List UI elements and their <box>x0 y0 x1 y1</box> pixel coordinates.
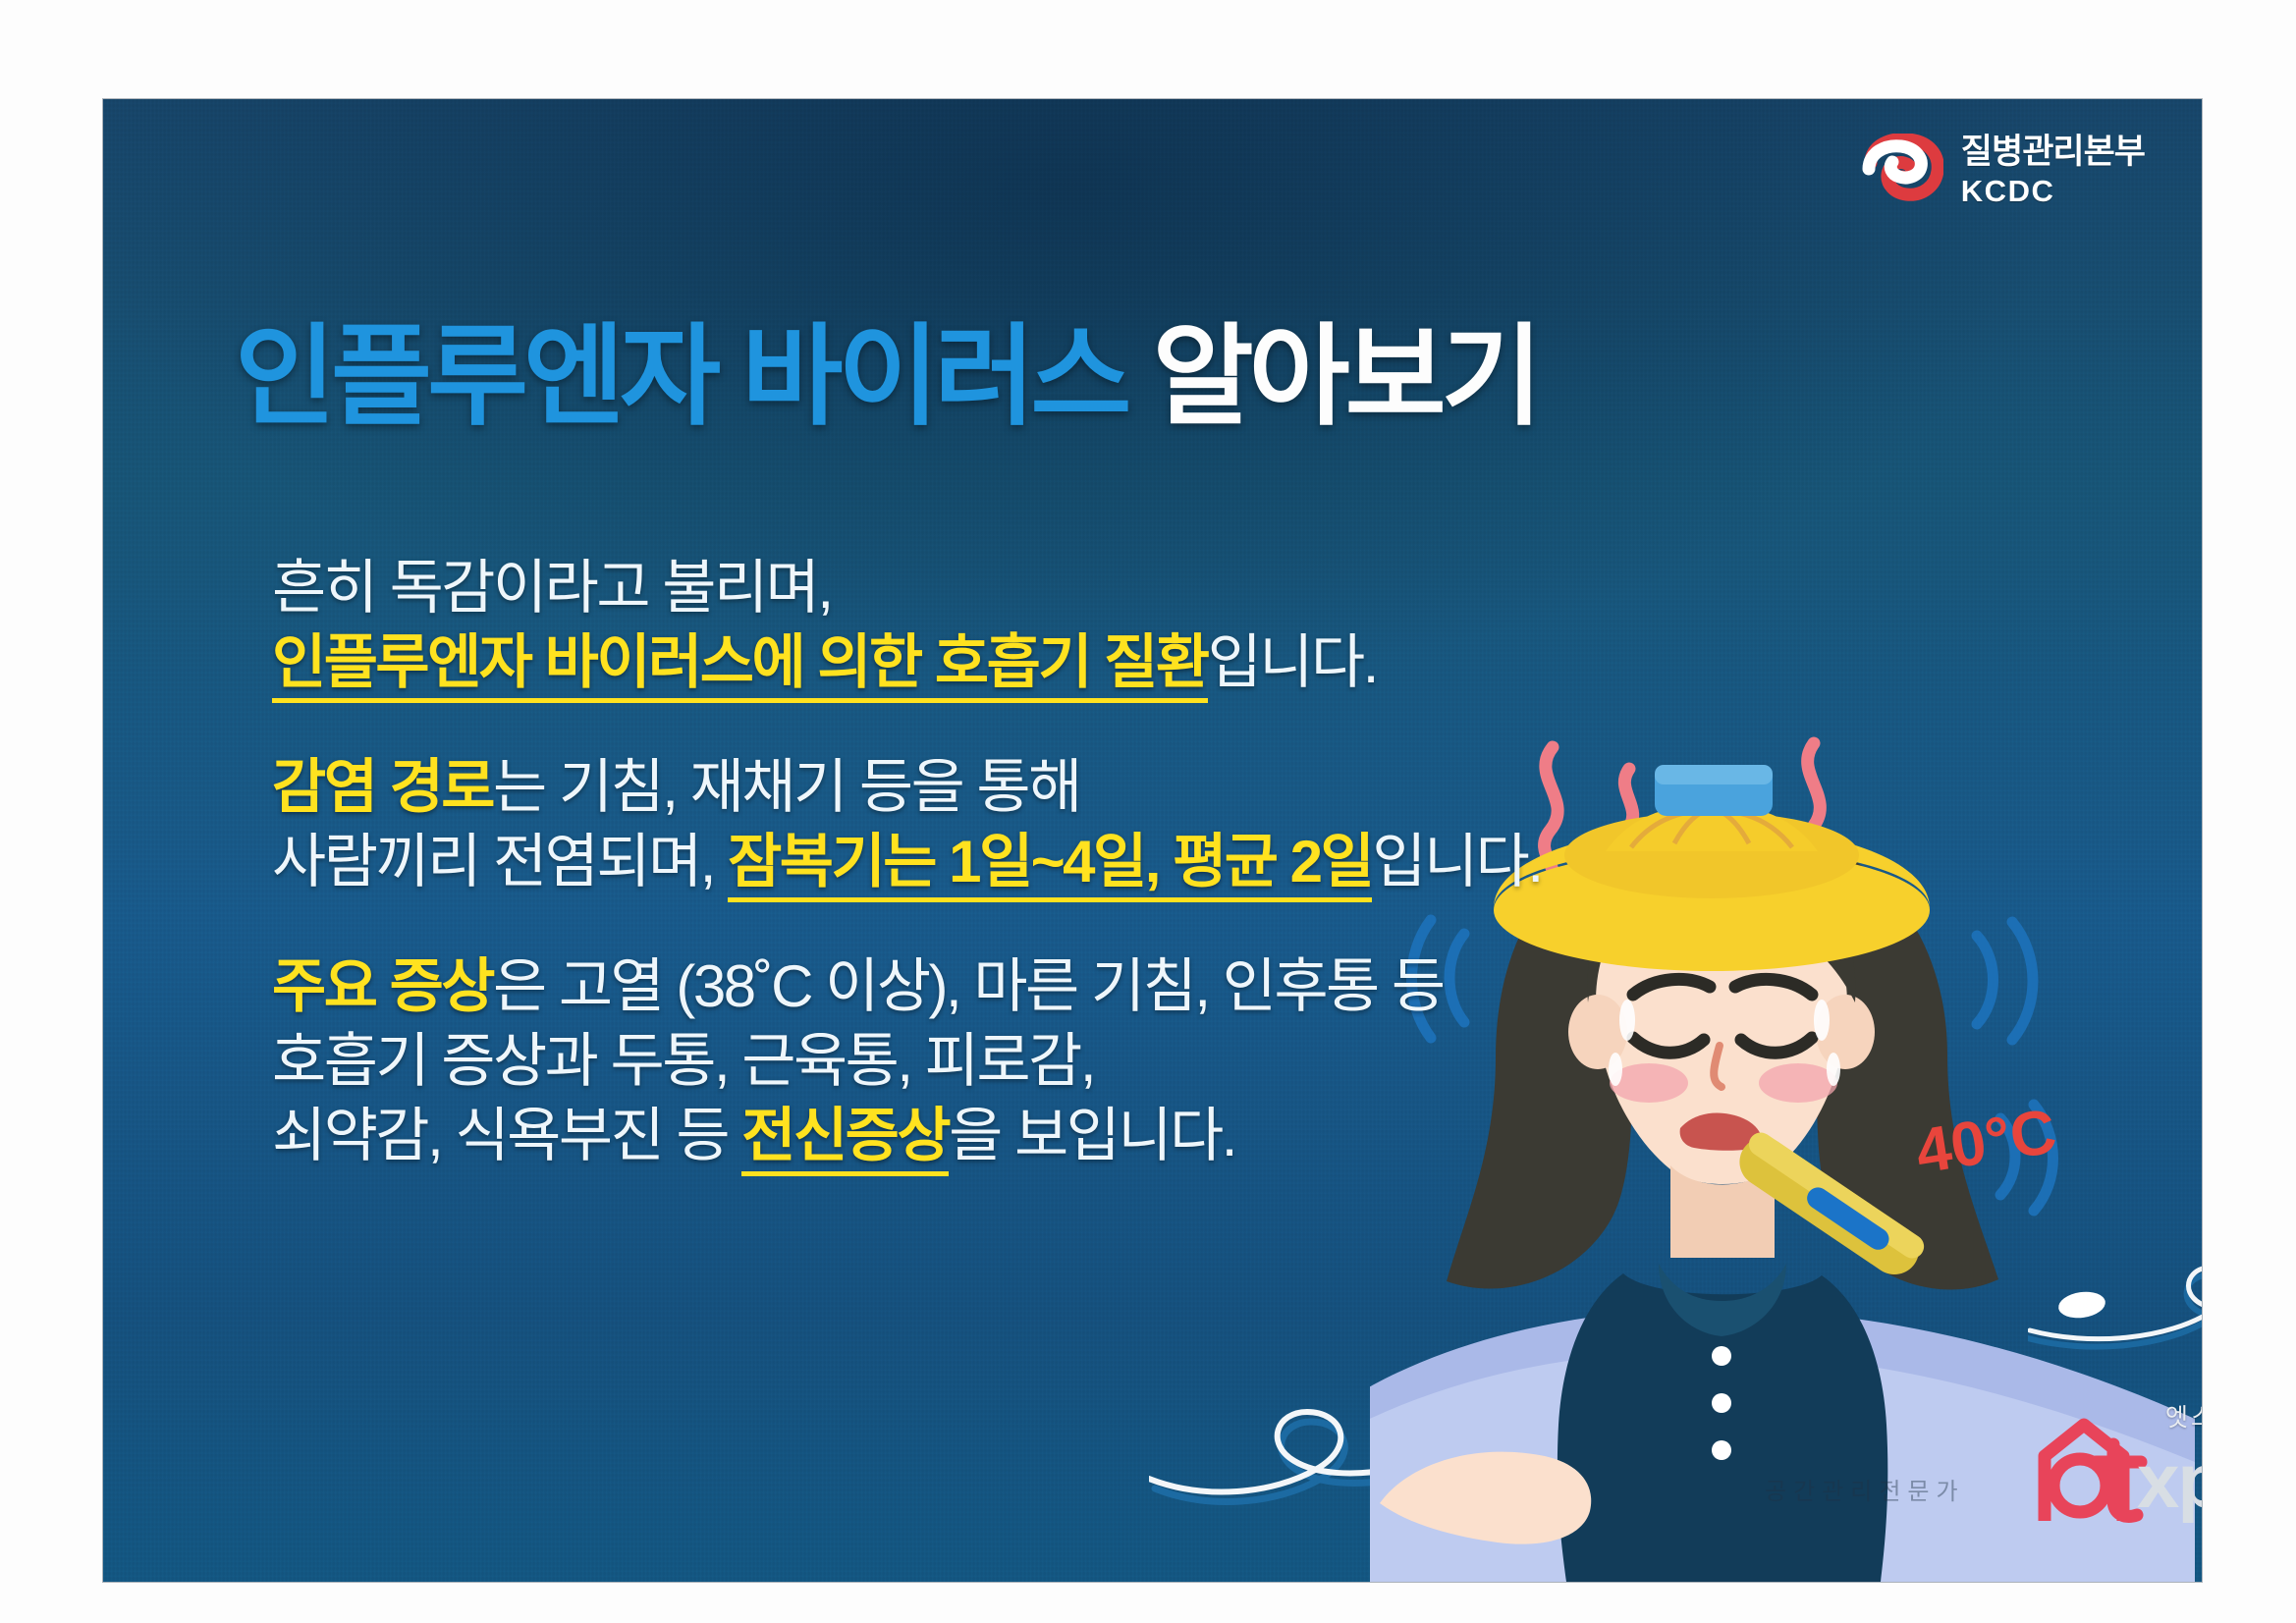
influenza-info-poster: 질병관리본부 KCDC 인플루엔자 바이러스 알아보기 흔히 독감이라고 불리며… <box>103 99 2202 1582</box>
paragraph-transmission-line-2: 사람끼리 전염되며, 잠복기는 1일~4일, 평균 2일입니다. <box>272 825 1542 899</box>
paragraph-symptoms: 주요 증상은 고열 (38˚C 이상), 마른 기침, 인후통 등호흡기 증상과… <box>272 949 1542 1172</box>
paragraph-definition-line-1: 흔히 독감이라고 불리며, <box>272 551 1542 625</box>
paragraph-definition-line-2: 인플루엔자 바이러스에 의한 호흡기 질환입니다. <box>272 625 1542 700</box>
scanned-page: 질병관리본부 KCDC 인플루엔자 바이러스 알아보기 흔히 독감이라고 불리며… <box>0 0 2296 1623</box>
ear-left <box>1568 995 1627 1069</box>
sweat-drops <box>1609 1000 1840 1086</box>
kcdc-name-english: KCDC <box>1961 176 2145 206</box>
text-segment-plain: 입니다. <box>1208 629 1377 695</box>
kcdc-taegeuk-swirl-icon <box>1861 134 1943 204</box>
eyebrows <box>1633 979 1812 995</box>
page-title-accent: 인플루엔자 바이러스 <box>235 315 1126 438</box>
svg-text:xpert: xpert <box>2137 1437 2202 1524</box>
paragraph-definition: 흔히 독감이라고 불리며,인플루엔자 바이러스에 의한 호흡기 질환입니다. <box>272 551 1542 699</box>
text-segment-plain: 흔히 독감이라고 불리며, <box>272 555 832 621</box>
thermometer-icon <box>1730 1128 1929 1284</box>
nose <box>1714 1046 1722 1087</box>
page-title: 인플루엔자 바이러스 알아보기 <box>235 315 1538 438</box>
paragraph-transmission: 감염 경로는 기침, 재채기 등을 통해사람끼리 전염되며, 잠복기는 1일~4… <box>272 750 1542 898</box>
text-segment-highlight: 감염 경로 <box>272 754 493 820</box>
text-segment-plain: 호흡기 증상과 두통, 근육통, 피로감, <box>272 1028 1094 1094</box>
ice-pack-cap <box>1655 765 1773 816</box>
hair-bangs <box>1587 857 1855 1002</box>
text-segment-highlight: 인플루엔자 바이러스에 의한 호흡기 질환 <box>272 629 1208 703</box>
temperature-label: 40°C <box>1911 1095 2061 1186</box>
collar <box>1659 1264 1786 1336</box>
watermark-tagline: 공간관리전문가 <box>1765 1472 1965 1506</box>
shirt-buttons <box>1712 1346 1731 1460</box>
heat-wave-icon <box>1545 743 1821 881</box>
blush-left <box>1610 1063 1688 1103</box>
kcdc-logo: 질병관리본부 KCDC <box>1861 131 2145 206</box>
atxpert-logo-korean: 엣스퍼트 <box>2165 1398 2202 1434</box>
kcdc-logo-text: 질병관리본부 KCDC <box>1961 131 2145 206</box>
text-segment-highlight: 잠복기는 1일~4일, 평균 2일 <box>728 829 1372 902</box>
air-swirl-right <box>2028 1228 2202 1385</box>
arm-hand <box>1380 1452 1591 1544</box>
text-segment-plain: 입니다. <box>1372 829 1541 894</box>
text-segment-plain: 은 고열 (38˚C 이상), 마른 기침, 인후통 등 <box>493 953 1444 1019</box>
text-segment-plain: 는 기침, 재채기 등을 통해 <box>493 754 1080 820</box>
paragraph-symptoms-line-3: 쇠약감, 식욕부진 등 전신증상을 보입니다. <box>272 1099 1542 1173</box>
text-segment-plain: 을 보입니다. <box>949 1103 1235 1168</box>
paragraph-transmission-line-1: 감염 경로는 기침, 재채기 등을 통해 <box>272 750 1542 825</box>
ear-right <box>1816 995 1875 1069</box>
face <box>1596 871 1847 1184</box>
shiver-lines-right <box>1977 922 2053 1211</box>
air-swirl-left <box>1149 1331 1699 1538</box>
text-segment-plain: 쇠약감, 식욕부진 등 <box>272 1103 741 1168</box>
page-title-plain: 알아보기 <box>1126 315 1537 438</box>
text-segment-highlight: 주요 증상 <box>272 953 493 1019</box>
eyes-closed <box>1633 1038 1812 1053</box>
shirt <box>1558 1273 1887 1582</box>
kcdc-name-korean: 질병관리본부 <box>1961 135 2145 169</box>
neck <box>1670 1165 1775 1258</box>
poster-body-copy: 흔히 독감이라고 불리며,인플루엔자 바이러스에 의한 호흡기 질환입니다.감염… <box>272 551 1542 1172</box>
ice-pack-icon <box>1494 765 1930 971</box>
text-segment-highlight: 전신증상 <box>741 1103 949 1176</box>
paragraph-symptoms-line-1: 주요 증상은 고열 (38˚C 이상), 마른 기침, 인후통 등 <box>272 949 1542 1024</box>
text-segment-plain: 사람끼리 전염되며, <box>272 829 728 894</box>
paragraph-symptoms-line-2: 호흡기 증상과 두통, 근육통, 피로감, <box>272 1024 1542 1099</box>
blush-right <box>1759 1063 1837 1103</box>
mouth-frown <box>1680 1113 1762 1151</box>
